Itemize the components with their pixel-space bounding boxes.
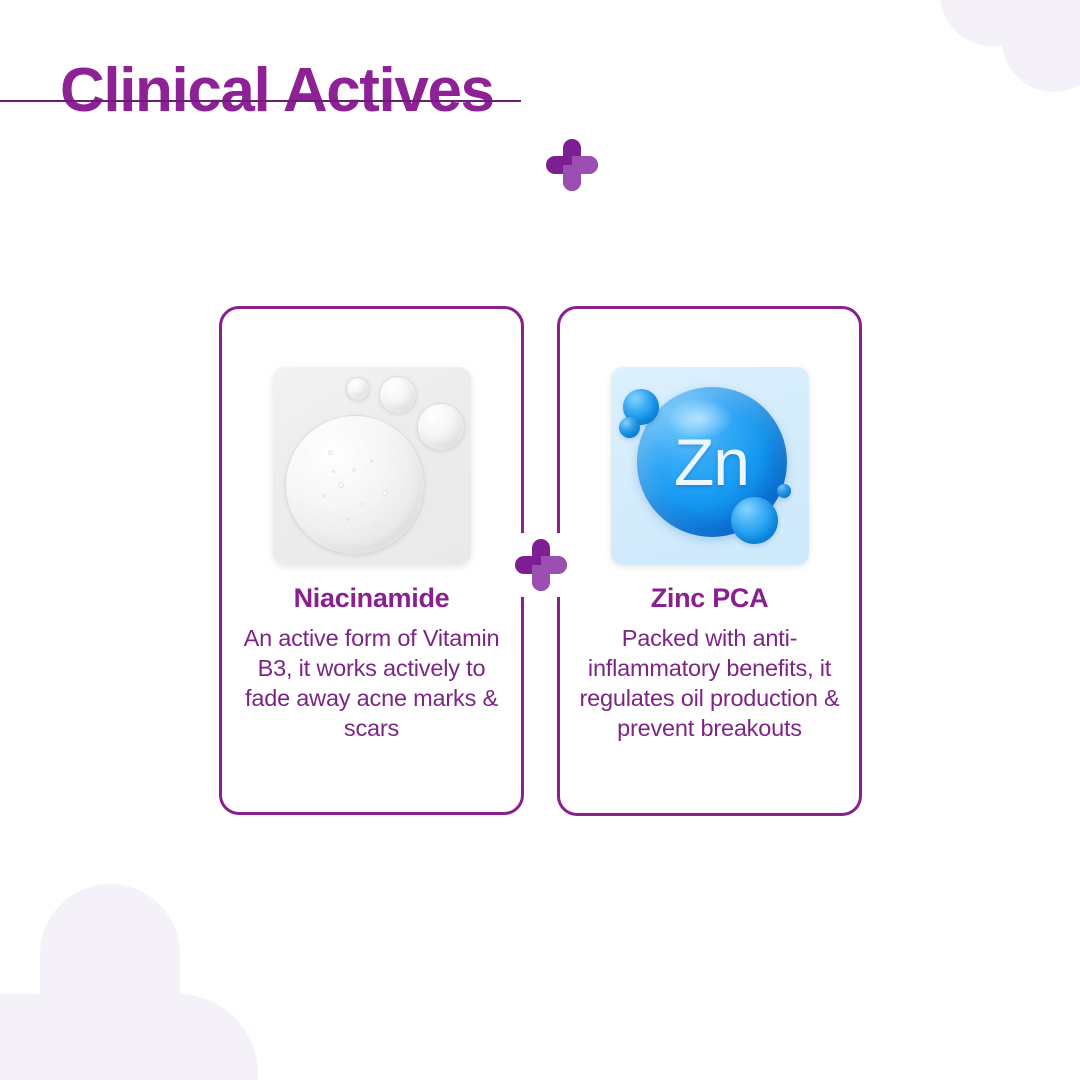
card-niacinamide[interactable]: Niacinamide An active form of Vitamin B3… [219, 306, 524, 815]
clover-lobe [40, 884, 180, 1080]
gel-droplet [346, 377, 370, 401]
plus-cross-icon-divider [515, 539, 567, 591]
zinc-bubble [619, 417, 640, 438]
card-title: Zinc PCA [651, 584, 769, 614]
zinc-sphere-image: Zn [611, 367, 809, 565]
gel-droplets-image [273, 367, 471, 565]
zinc-bubble [731, 497, 778, 544]
blob-lobe [940, 0, 1044, 46]
card-description: An active form of Vitamin B3, it works a… [236, 623, 507, 743]
clover-lobe [0, 994, 140, 1080]
card-description: Packed with anti-inflammatory benefits, … [574, 623, 845, 743]
blob-lobe [1002, 0, 1080, 26]
card-zinc-pca[interactable]: Zn Zinc PCA Packed with anti-inflammator… [557, 306, 862, 816]
page-title: Clinical Actives [0, 60, 640, 122]
title-underline-rule [0, 100, 521, 102]
clover-lobe [0, 1026, 140, 1080]
blob-lobe [1002, 0, 1080, 92]
header: Clinical Actives [0, 60, 640, 122]
top-right-blob-decoration [940, 0, 1080, 112]
card-title: Niacinamide [294, 584, 450, 614]
bottom-left-clover-decoration [0, 876, 290, 1080]
clover-lobe [98, 994, 258, 1080]
gel-droplet [379, 376, 417, 414]
gel-droplet [417, 403, 465, 451]
zinc-bubble [777, 484, 791, 498]
gel-droplet-main [285, 415, 425, 555]
plus-cross-icon [546, 139, 598, 191]
poster-canvas: Clinical Actives [0, 0, 1080, 1080]
